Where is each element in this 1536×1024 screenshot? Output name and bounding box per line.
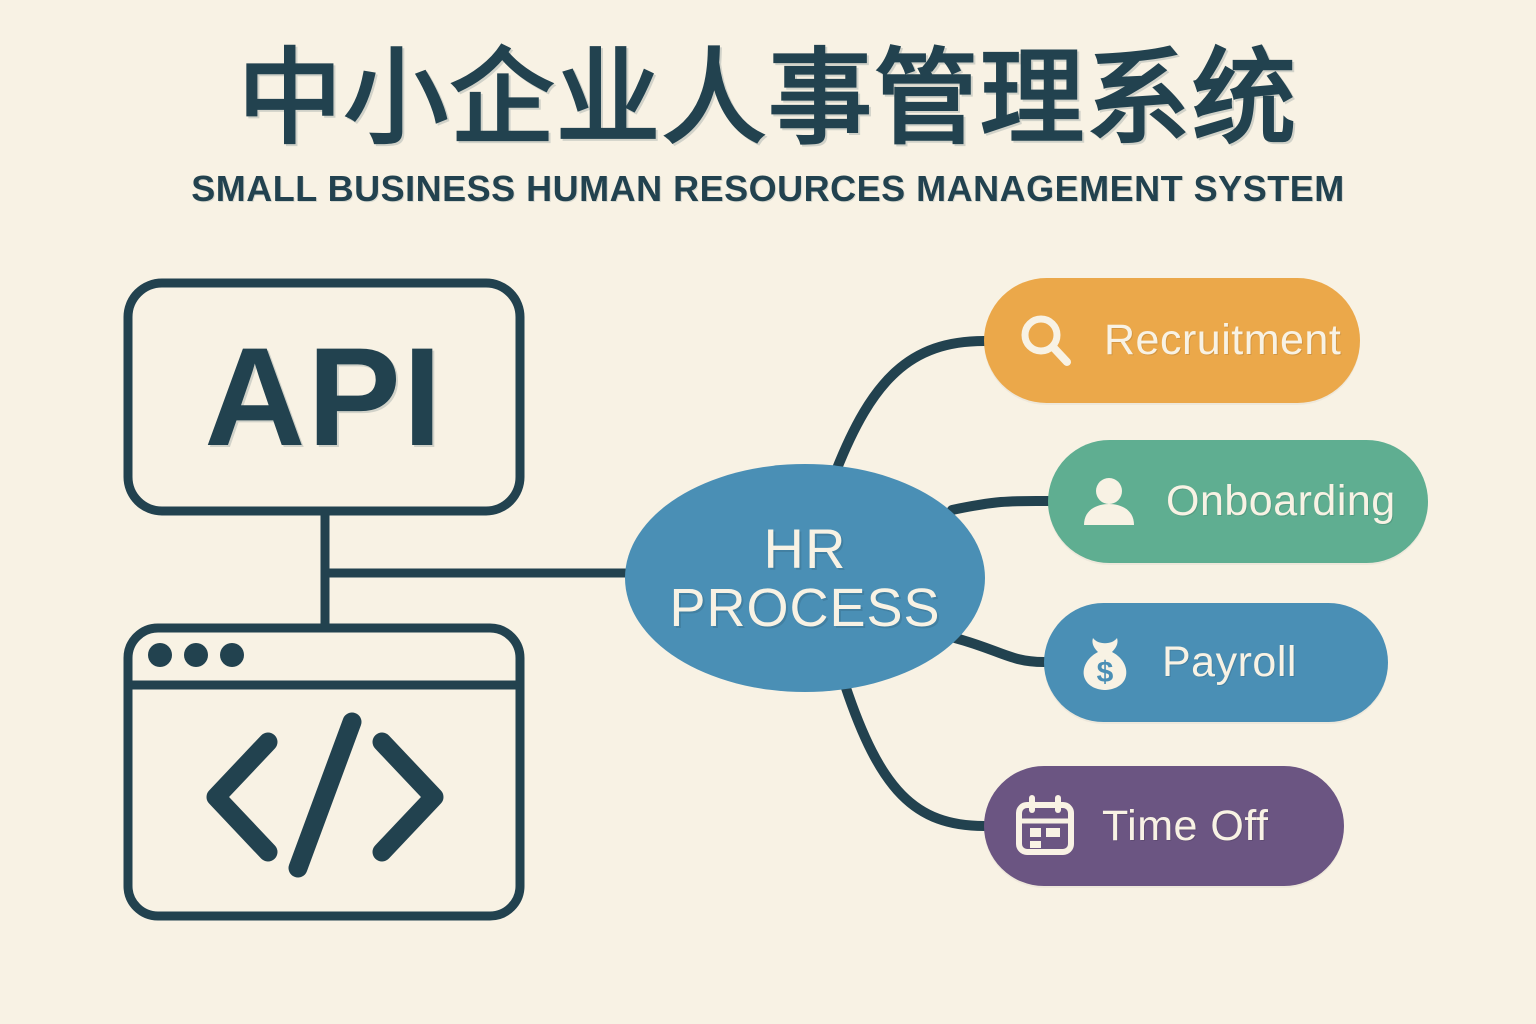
connector-to-onboarding [952, 501, 1048, 510]
branch-label: Payroll [1162, 638, 1297, 687]
code-chevron-right [382, 742, 434, 852]
code-window-icon[interactable] [128, 628, 520, 916]
branch-pill-payroll[interactable]: $ Payroll [1044, 603, 1388, 722]
connector-group-left [325, 511, 640, 628]
calendar-icon [1014, 795, 1076, 857]
hr-process-node[interactable]: HR PROCESS [625, 464, 985, 692]
branch-label: Recruitment [1104, 316, 1341, 365]
search-icon [1014, 309, 1078, 373]
connector-to-recruitment [836, 341, 984, 471]
branch-label: Onboarding [1166, 477, 1396, 526]
infographic-canvas: 中小企业人事管理系统 SMALL BUSINESS HUMAN RESOURCE… [0, 0, 1536, 1024]
money-bag-icon: $ [1074, 632, 1136, 694]
window-dot-2 [184, 643, 208, 667]
connector-to-timeoff [845, 685, 984, 826]
branch-pill-timeoff[interactable]: Time Off [984, 766, 1344, 886]
hr-node-line-1: HR [764, 520, 847, 577]
api-label: API [128, 283, 520, 511]
user-icon [1078, 471, 1140, 533]
code-chevron-left [216, 742, 268, 852]
branch-label: Time Off [1102, 802, 1268, 851]
window-dot-3 [220, 643, 244, 667]
code-slash [298, 722, 352, 868]
svg-text:$: $ [1097, 656, 1114, 689]
branch-pill-onboarding[interactable]: Onboarding [1048, 440, 1428, 563]
hr-node-line-2: PROCESS [669, 581, 940, 636]
window-dot-1 [148, 643, 172, 667]
connector-to-payroll [955, 638, 1044, 662]
branch-pill-recruitment[interactable]: Recruitment [984, 278, 1360, 403]
